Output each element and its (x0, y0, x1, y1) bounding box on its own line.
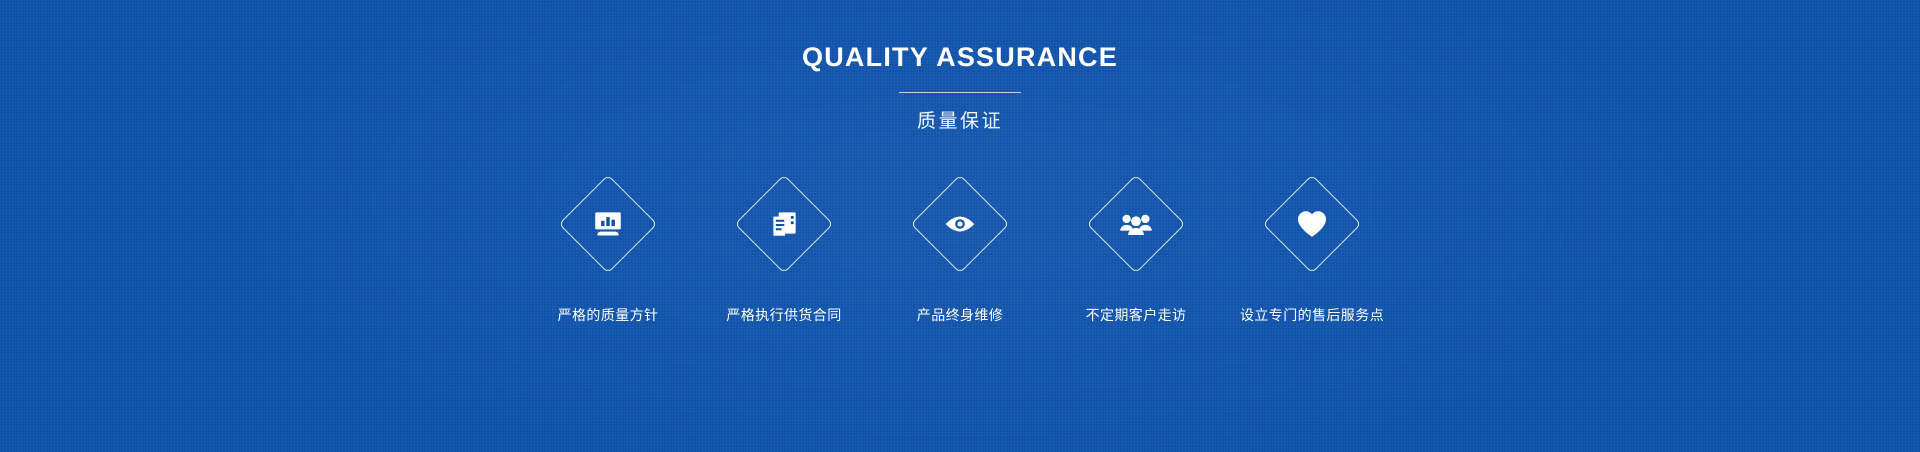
page-subtitle: 质量保证 (152, 109, 1768, 135)
title-divider (899, 92, 1021, 93)
diamond-frame (1087, 175, 1186, 274)
feature-item-quality-policy[interactable]: 严格的质量方针 (520, 173, 696, 325)
diamond-frame (559, 175, 658, 274)
eye-icon (938, 202, 982, 246)
heart-icon (1290, 202, 1334, 246)
feature-item-label: 设立专门的售后服务点 (1240, 305, 1384, 325)
quality-assurance-banner: QUALITY ASSURANCE 质量保证 (0, 0, 1920, 452)
contract-document-icon (762, 202, 806, 246)
banner-heading: QUALITY ASSURANCE 质量保证 (152, 40, 1768, 135)
feature-item-label: 严格执行供货合同 (726, 305, 841, 325)
feature-item-label: 产品终身维修 (917, 305, 1003, 325)
diamond-frame (911, 175, 1010, 274)
feature-item-lifetime-repair[interactable]: 产品终身维修 (872, 173, 1048, 325)
page-title: QUALITY ASSURANCE (152, 40, 1768, 74)
banner-content: QUALITY ASSURANCE 质量保证 (152, 0, 1768, 325)
people-group-icon (1114, 202, 1158, 246)
diamond-frame (735, 175, 834, 274)
feature-list: 严格的质量方针 (152, 173, 1768, 325)
feature-item-label: 不定期客户走访 (1086, 305, 1187, 325)
feature-item-label: 严格的质量方针 (558, 305, 659, 325)
feature-item-customer-visit[interactable]: 不定期客户走访 (1048, 173, 1224, 325)
feature-item-supply-contract[interactable]: 严格执行供货合同 (696, 173, 872, 325)
diamond-frame (1263, 175, 1362, 274)
presentation-chart-icon (586, 202, 630, 246)
feature-item-service-center[interactable]: 设立专门的售后服务点 (1224, 173, 1400, 325)
